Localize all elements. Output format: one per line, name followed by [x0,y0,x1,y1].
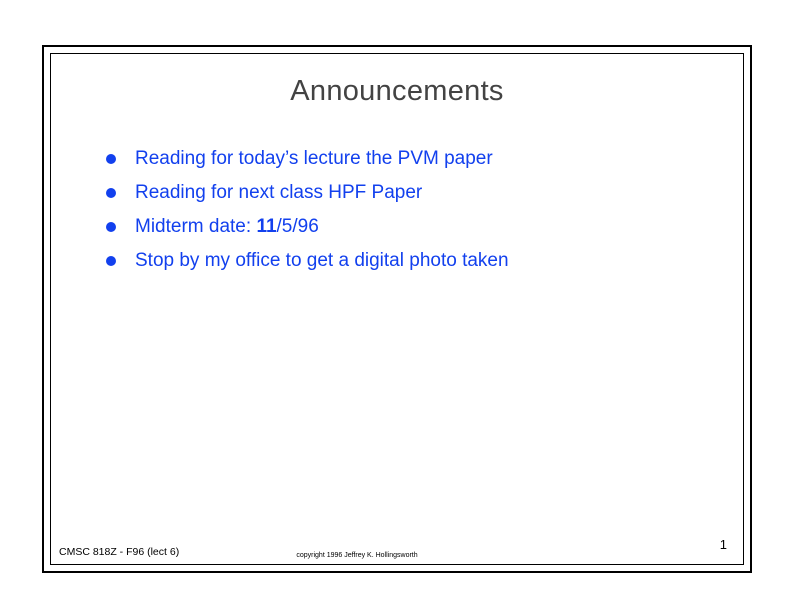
list-item: Midterm date: 11/5/96 [101,210,725,244]
slide-frame: Announcements Reading for today’s lectur… [42,45,752,573]
page-number: 1 [720,537,727,552]
list-item-label: Stop by my office to get a digital photo… [135,250,509,272]
page-title: Announcements [51,76,743,108]
midterm-daypart: /5/96 [277,216,319,237]
list-item: Stop by my office to get a digital photo… [101,244,725,278]
list-item: Reading for today’s lecture the PVM pape… [101,142,725,176]
bullet-dot-icon [106,188,116,198]
slide-footer: CMSC 818Z - F96 (lect 6) copyright 1996 … [51,532,743,564]
midterm-month: 11 [256,216,276,237]
list-item-label: Reading for next class HPF Paper [135,182,422,204]
list-item-label: Reading for today’s lecture the PVM pape… [135,148,493,170]
bullet-dot-icon [106,154,116,164]
list-item-label: Midterm date: 11/5/96 [135,216,319,238]
footer-copyright-label: copyright 1996 Jeffrey K. Hollingsworth [11,552,703,559]
bullet-dot-icon [106,222,116,232]
midterm-label: Midterm date: [135,216,256,237]
bullet-list: Reading for today’s lecture the PVM pape… [101,142,725,278]
list-item: Reading for next class HPF Paper [101,176,725,210]
bullet-dot-icon [106,256,116,266]
slide-inner-border: Announcements Reading for today’s lectur… [50,53,744,565]
